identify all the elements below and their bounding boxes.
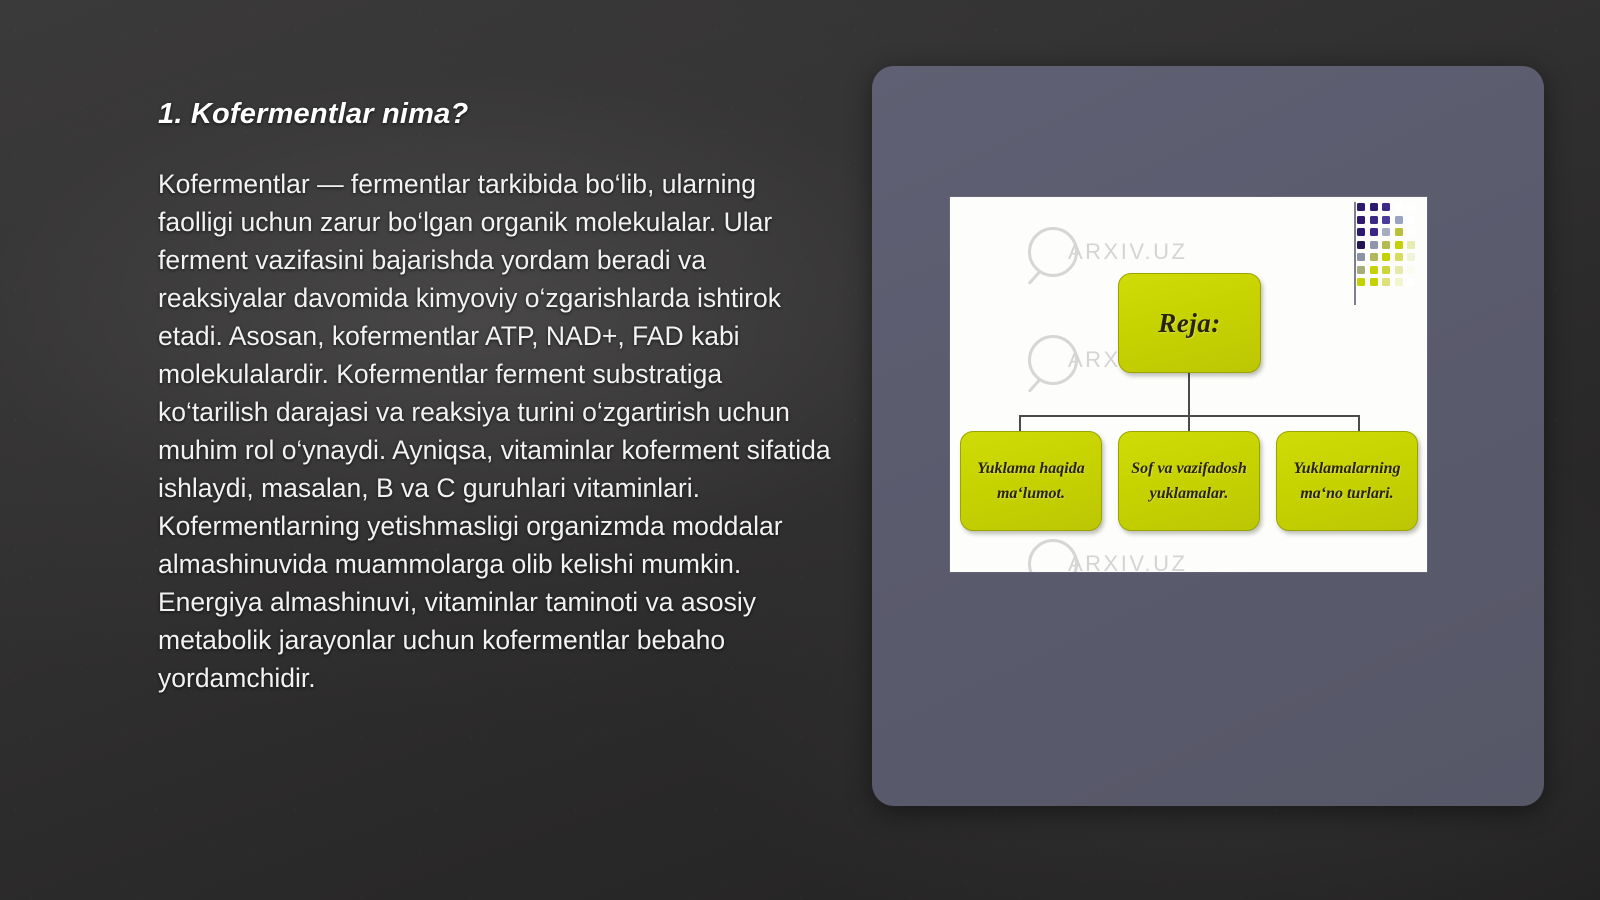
org-chart: Reja: Yuklama haqida ma‘lumot. Sof va va… (950, 197, 1427, 572)
org-node-root: Reja: (1118, 273, 1261, 373)
image-card: ARXIV.UZ ARXIV.UZ ARXIV.UZ Reja: (872, 66, 1544, 806)
connector-stem (1188, 371, 1190, 416)
presentation-slide: 1. Kofermentlar nima? Kofermentlar — fer… (0, 0, 1600, 900)
body-paragraph: Kofermentlar — fermentlar tarkibida bo‘l… (158, 165, 838, 697)
diagram-sheet: ARXIV.UZ ARXIV.UZ ARXIV.UZ Reja: (950, 197, 1427, 572)
org-node-child: Sof va vazifadosh yuklamalar. (1118, 431, 1260, 531)
connector-drop (1188, 415, 1190, 432)
org-node-child: Yuklamalarning ma‘no turlari. (1276, 431, 1418, 531)
text-column: 1. Kofermentlar nima? Kofermentlar — fer… (158, 98, 838, 697)
page-title: 1. Kofermentlar nima? (158, 98, 838, 131)
org-node-child: Yuklama haqida ma‘lumot. (960, 431, 1102, 531)
connector-drop (1358, 415, 1360, 432)
connector-drop (1019, 415, 1021, 432)
